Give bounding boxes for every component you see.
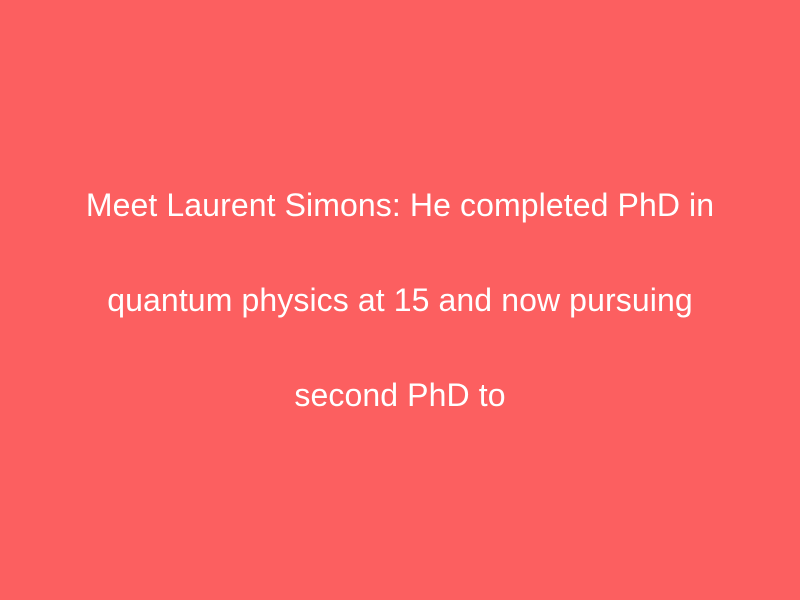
headline-line-3: second PhD to — [50, 372, 750, 420]
headline-line-2: quantum physics at 15 and now pursuing — [50, 277, 750, 325]
headline-card: Meet Laurent Simons: He completed PhD in… — [0, 0, 800, 600]
page-title: Meet Laurent Simons: He completed PhD in… — [50, 135, 750, 468]
headline-line-1: Meet Laurent Simons: He completed PhD in — [50, 182, 750, 230]
headline-block: Meet Laurent Simons: He completed PhD in… — [50, 135, 750, 468]
